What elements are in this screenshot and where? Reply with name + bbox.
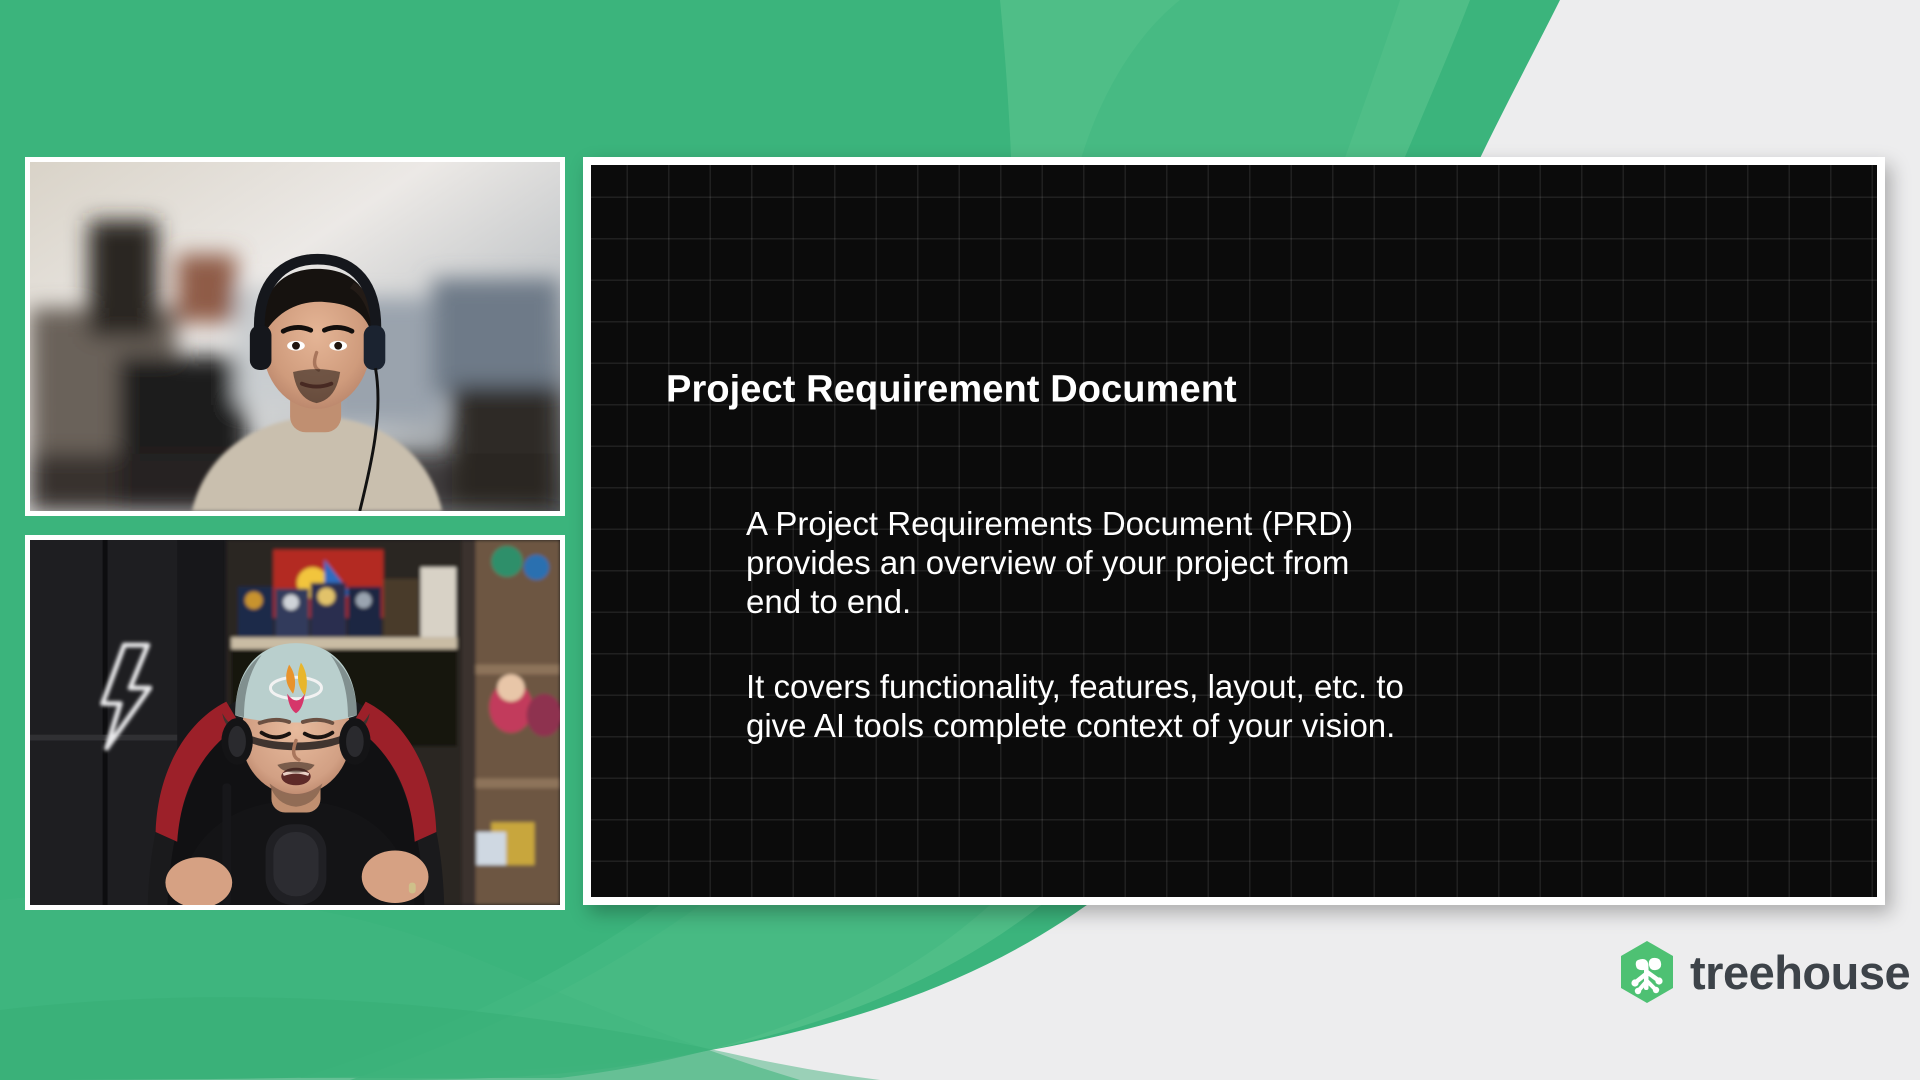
slide-title: Project Requirement Document [666, 369, 1237, 412]
slide-paragraph-1-line-2: provides an overview of your project fro… [746, 544, 1646, 583]
slide-paragraph-spacer [746, 622, 1646, 668]
camera-feed-top-image [30, 162, 560, 511]
treehouse-hexagon-logo-icon [1618, 940, 1676, 1004]
presentation-slide: Project Requirement Document A Project R… [583, 157, 1885, 905]
slide-paragraph-2: It covers functionality, features, layou… [746, 668, 1646, 746]
slide-body: A Project Requirements Document (PRD) pr… [746, 505, 1646, 746]
presenter-camera-bottom[interactable] [25, 535, 565, 910]
treehouse-logo: treehouse [1618, 940, 1910, 1004]
slide-paragraph-1-line-3: end to end. [746, 583, 1646, 622]
slide-canvas: Project Requirement Document A Project R… [591, 165, 1877, 897]
camera-feed-bottom-image [30, 540, 560, 905]
slide-paragraph-2-line-2: give AI tools complete context of your v… [746, 707, 1646, 746]
slide-paragraph-2-line-1: It covers functionality, features, layou… [746, 668, 1646, 707]
treehouse-wordmark: treehouse [1690, 949, 1910, 996]
slide-paragraph-1-line-1: A Project Requirements Document (PRD) [746, 505, 1646, 544]
presenter-camera-top[interactable] [25, 157, 565, 516]
slide-paragraph-1: A Project Requirements Document (PRD) pr… [746, 505, 1646, 622]
